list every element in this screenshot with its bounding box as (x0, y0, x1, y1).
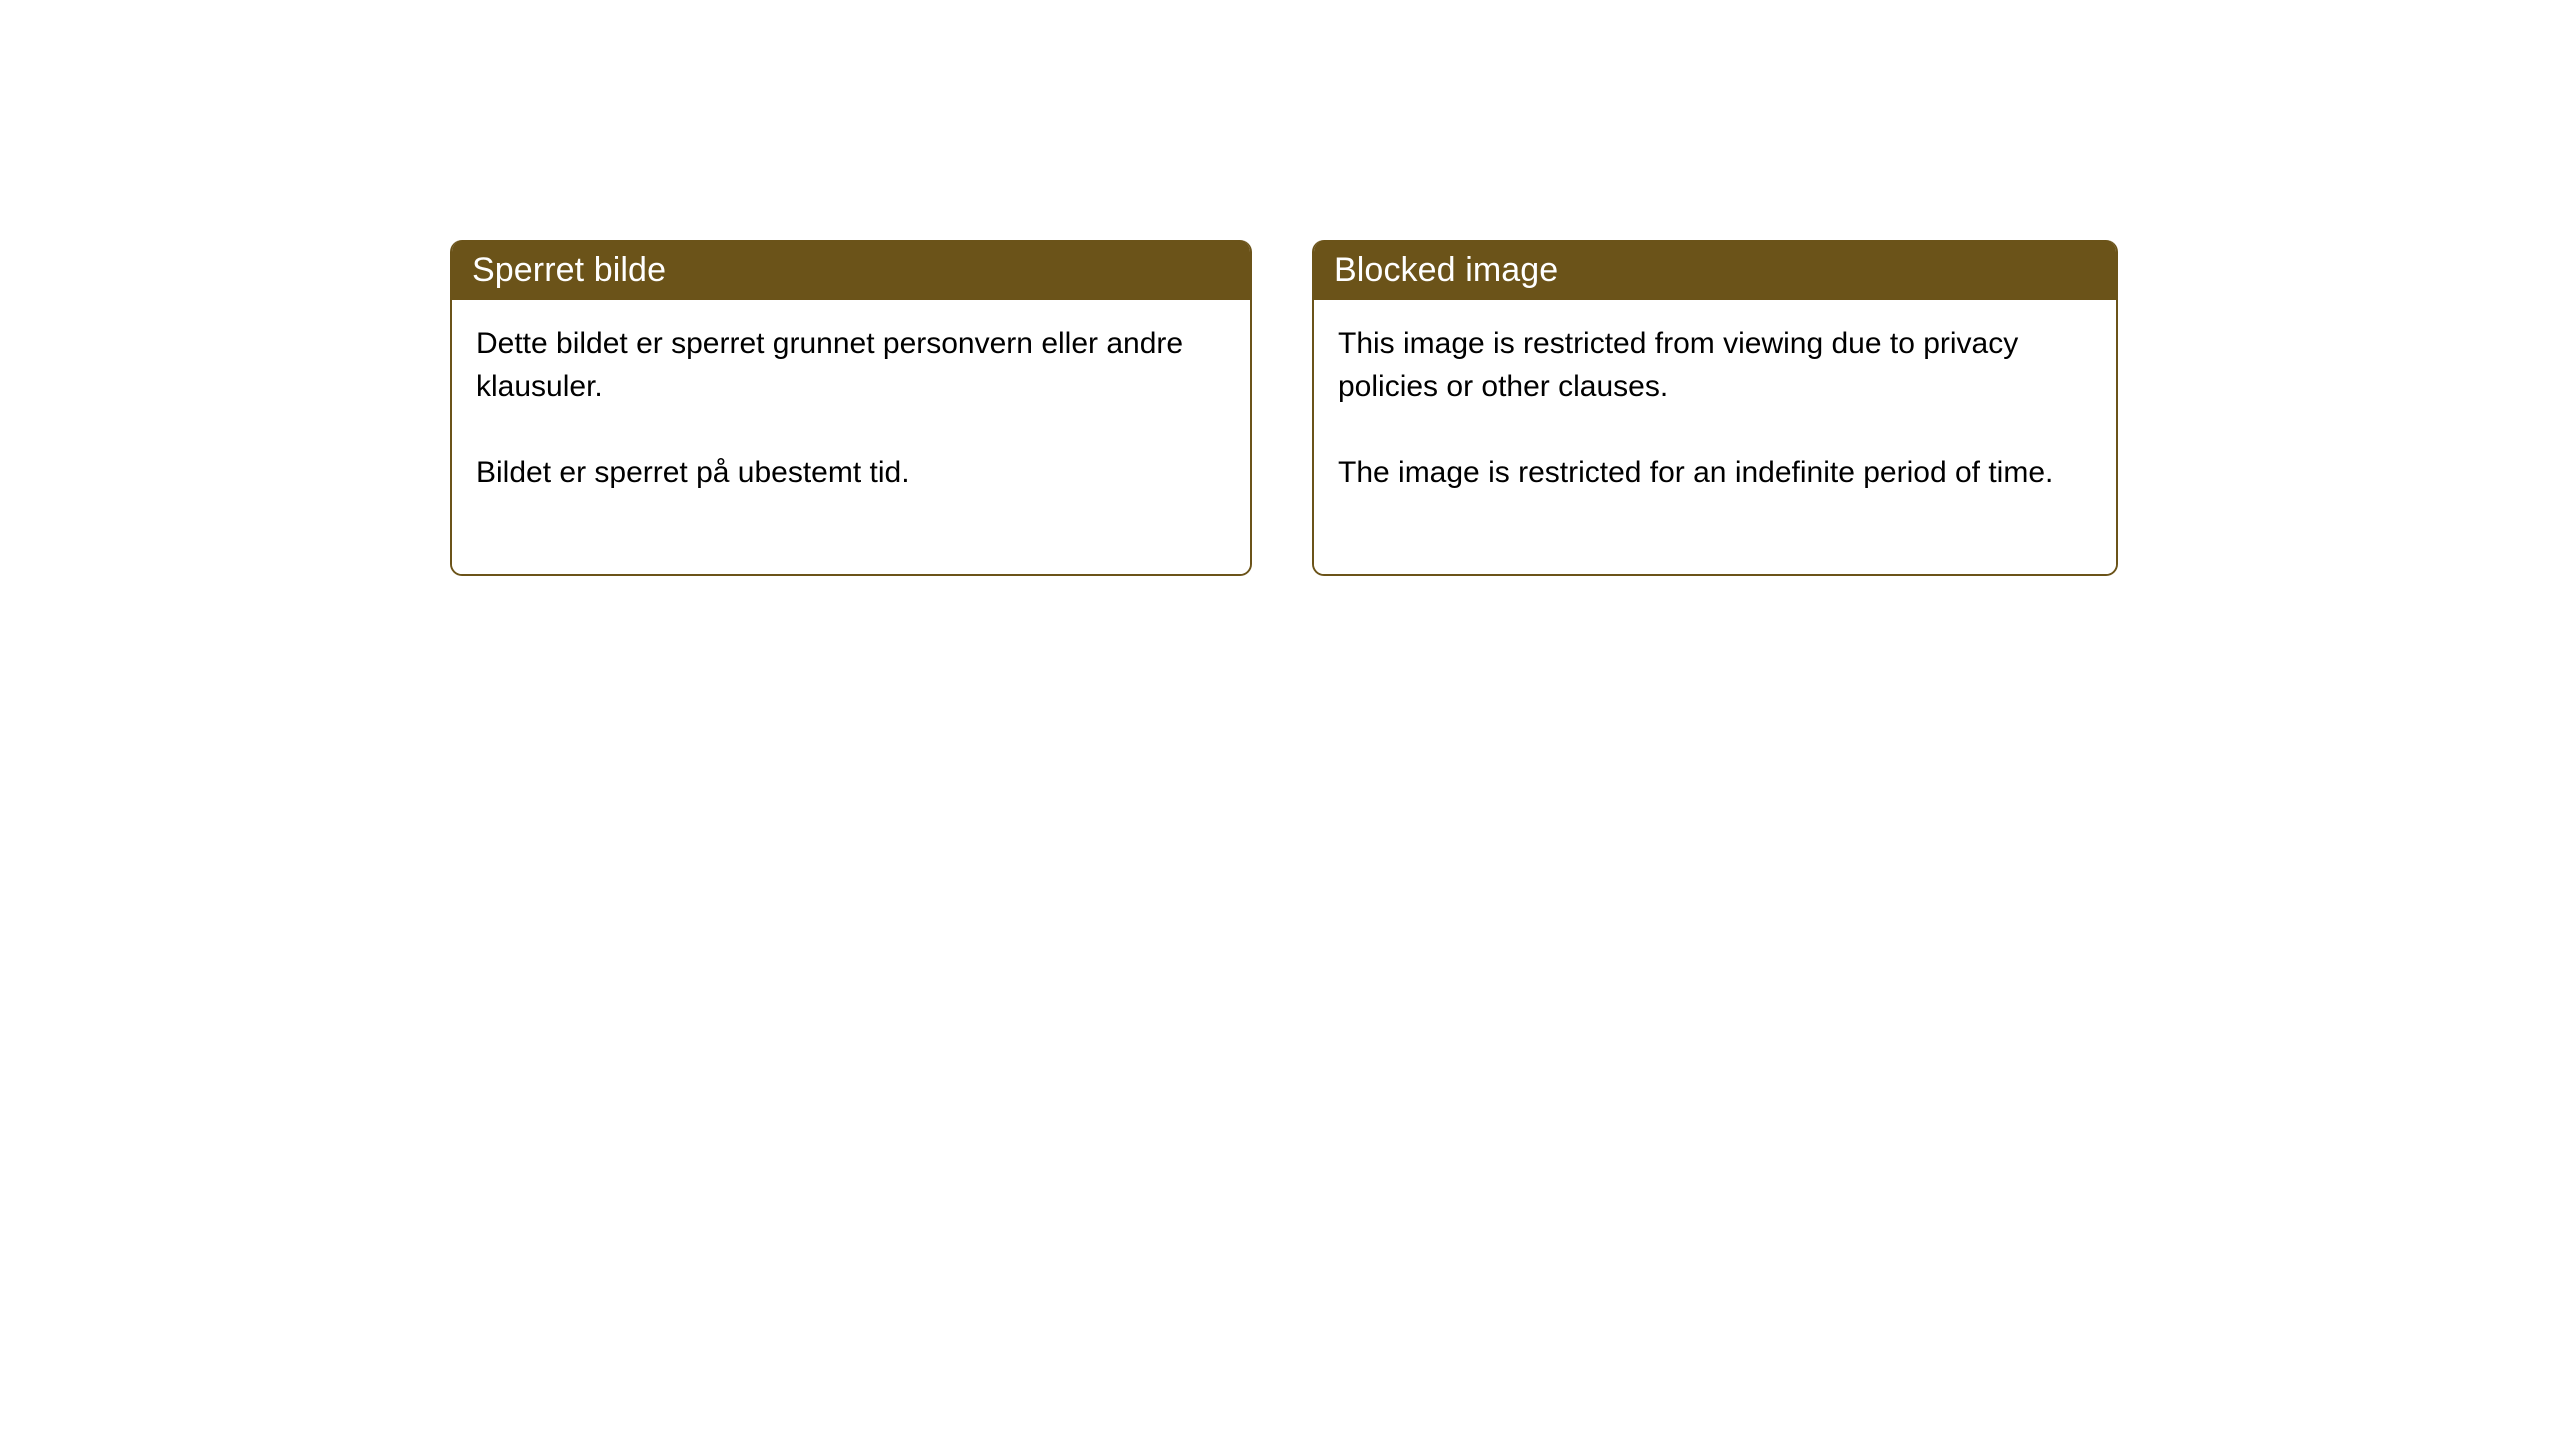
notice-body-no: Dette bildet er sperret grunnet personve… (452, 300, 1250, 574)
notice-header-no: Sperret bilde (450, 240, 1252, 300)
blocked-image-notice-card-en: Blocked image This image is restricted f… (1312, 240, 2118, 576)
blocked-image-notice-group: Sperret bilde Dette bildet er sperret gr… (450, 240, 2118, 576)
notice-title-en: Blocked image (1334, 250, 1558, 290)
notice-paragraph-en-2: The image is restricted for an indefinit… (1338, 451, 2090, 494)
notice-paragraph-no-1: Dette bildet er sperret grunnet personve… (476, 322, 1224, 408)
notice-body-en: This image is restricted from viewing du… (1314, 300, 2116, 574)
notice-paragraph-no-2: Bildet er sperret på ubestemt tid. (476, 451, 1224, 494)
page-canvas: Sperret bilde Dette bildet er sperret gr… (0, 0, 2560, 1440)
notice-title-no: Sperret bilde (472, 250, 666, 290)
notice-paragraph-en-1: This image is restricted from viewing du… (1338, 322, 2090, 408)
blocked-image-notice-card-no: Sperret bilde Dette bildet er sperret gr… (450, 240, 1252, 576)
notice-header-en: Blocked image (1312, 240, 2118, 300)
